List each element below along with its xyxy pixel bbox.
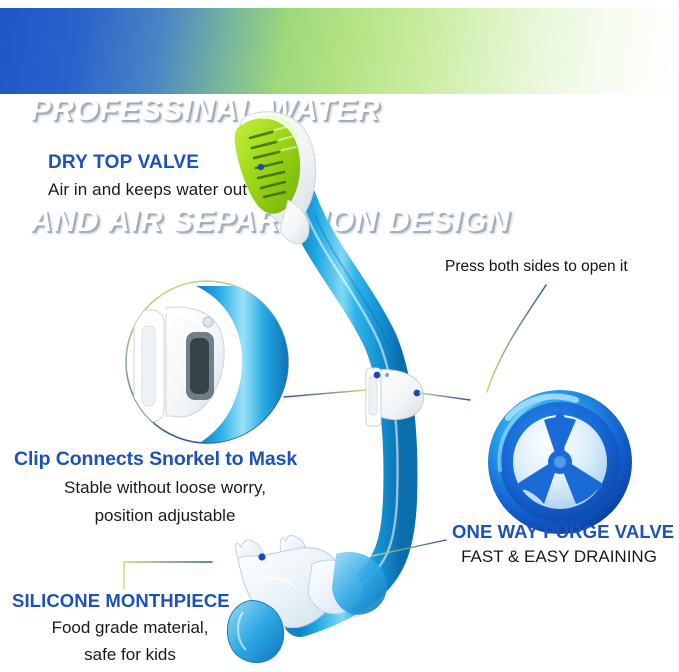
callout-purge-valve-title: ONE WAY PURGE VALVE bbox=[452, 521, 674, 543]
infographic-canvas: PROFESSINAL WATER AND AIR SEPARATION DES… bbox=[0, 0, 679, 672]
callout-dry-top-valve: DRY TOP VALVE Air in and keeps water out bbox=[48, 152, 247, 200]
silicone-mouthpiece bbox=[227, 535, 386, 662]
header-banner: PROFESSINAL WATER AND AIR SEPARATION DES… bbox=[0, 8, 679, 94]
callout-mouthpiece-subtitle-line1: Food grade material, bbox=[12, 616, 248, 639]
callout-clip-subtitle-line1: Stable without loose worry, bbox=[14, 476, 316, 499]
purge-valve bbox=[488, 390, 632, 534]
callout-clip-subtitle-line2: position adjustable bbox=[14, 504, 316, 527]
clip-button-left bbox=[374, 372, 381, 379]
callout-mouthpiece: SILICONE MONTHPIECE Food grade material,… bbox=[12, 590, 248, 666]
leader-clip-right bbox=[420, 393, 470, 400]
callout-press-both-sides: Press both sides to open it bbox=[445, 258, 628, 276]
callout-mouthpiece-subtitle-line2: safe for kids bbox=[12, 643, 248, 666]
leader-purge-valve bbox=[372, 540, 446, 556]
leader-mouthpiece bbox=[124, 562, 212, 589]
banner-title-line2: AND AIR SEPARATION DESIGN bbox=[30, 202, 510, 239]
clip-button-right bbox=[414, 390, 421, 397]
mouthpiece-dot bbox=[258, 553, 265, 560]
leader-clip-circle bbox=[284, 390, 366, 397]
callout-dry-top-valve-subtitle: Air in and keeps water out bbox=[48, 180, 247, 200]
purge-valve-spokes bbox=[520, 415, 600, 504]
callout-clip-title: Clip Connects Snorkel to Mask bbox=[14, 448, 316, 471]
callout-purge-valve-subtitle: FAST & EASY DRAINING bbox=[452, 547, 666, 567]
callout-clip: Clip Connects Snorkel to Mask Stable wit… bbox=[14, 448, 316, 527]
callout-mouthpiece-title: SILICONE MONTHPIECE bbox=[12, 590, 248, 612]
callout-dry-top-valve-title: DRY TOP VALVE bbox=[48, 152, 247, 174]
banner-title-line1: PROFESSINAL WATER bbox=[30, 91, 510, 128]
callout-press-both-sides-text: Press both sides to open it bbox=[445, 258, 628, 276]
callout-purge-valve: ONE WAY PURGE VALVE FAST & EASY DRAINING bbox=[452, 521, 674, 567]
mask-clip-on-tube bbox=[366, 368, 424, 426]
